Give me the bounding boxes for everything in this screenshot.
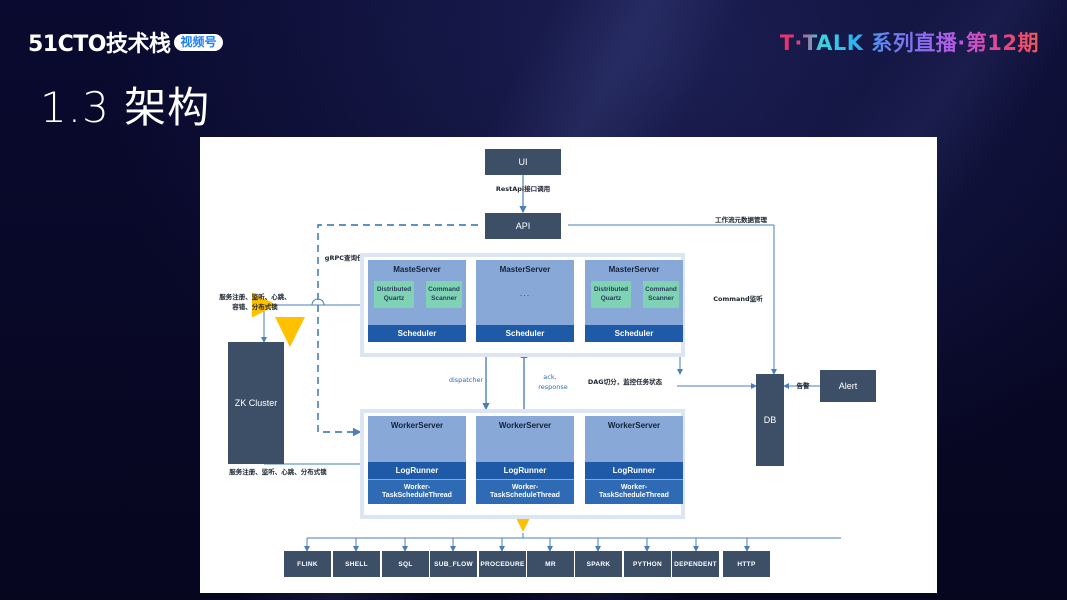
task-node-python-label: PYTHON	[633, 561, 662, 568]
edge-label-dispatcher: dispatcher	[446, 376, 486, 385]
master-server-2-ellipsis: ...	[476, 288, 574, 298]
task-node-flink-label: FLINK	[297, 561, 318, 568]
worker-server-2-title: WorkerServer	[476, 421, 574, 430]
node-master-server-1[interactable]: MasteServer DistributedQuartz CommandSca…	[368, 260, 466, 342]
node-master-server-3[interactable]: MasterServer DistributedQuartz CommandSc…	[585, 260, 683, 342]
worker-server-1-thread[interactable]: Worker-TaskScheduleThread	[368, 480, 466, 504]
master-server-3-quartz[interactable]: DistributedQuartz	[591, 281, 631, 308]
task-node-flink[interactable]: FLINK	[284, 551, 331, 577]
master-server-3-scanner[interactable]: CommandScanner	[643, 281, 679, 308]
edge-label-ack: ack,	[530, 373, 570, 382]
master-server-2-title: MasterServer	[476, 265, 574, 274]
node-ui[interactable]: UI	[485, 149, 561, 175]
worker-server-1-title: WorkerServer	[368, 421, 466, 430]
master-server-1-scheduler[interactable]: Scheduler	[368, 325, 466, 342]
edge-label-rest-api: RestApi接口调用	[481, 185, 565, 194]
brand-badge: 视频号	[174, 34, 222, 51]
brand-logo: 51CTO技术栈 视频号	[28, 26, 223, 58]
node-alert[interactable]: Alert	[820, 370, 876, 402]
task-node-sql[interactable]: SQL	[382, 551, 429, 577]
task-node-spark[interactable]: SPARK	[575, 551, 622, 577]
task-node-dependent[interactable]: DEPENDENT	[672, 551, 719, 577]
worker-server-3-logrunner[interactable]: LogRunner	[585, 462, 683, 479]
task-node-shell-label: SHELL	[345, 561, 368, 568]
worker-server-2-thread[interactable]: Worker-TaskScheduleThread	[476, 480, 574, 504]
edge-label-alarm: 告警	[786, 382, 820, 391]
worker-server-2-logrunner-label: LogRunner	[504, 466, 547, 475]
master-server-3-scheduler[interactable]: Scheduler	[585, 325, 683, 342]
task-node-procedure[interactable]: PROCEDURE	[479, 551, 526, 577]
master-server-3-title: MasterServer	[585, 265, 683, 274]
page-title: 1.3 架构	[40, 74, 210, 135]
node-worker-server-1[interactable]: WorkerServer LogRunner Worker-TaskSchedu…	[368, 416, 466, 504]
worker-server-3-thread[interactable]: Worker-TaskScheduleThread	[585, 480, 683, 504]
master-server-1-scanner[interactable]: CommandScanner	[426, 281, 462, 308]
node-worker-server-2[interactable]: WorkerServer LogRunner Worker-TaskSchedu…	[476, 416, 574, 504]
node-api[interactable]: API	[485, 213, 561, 239]
master-server-1-scheduler-label: Scheduler	[398, 329, 437, 338]
node-api-label: API	[516, 221, 531, 232]
node-master-server-2[interactable]: MasterServer ... Scheduler	[476, 260, 574, 342]
task-node-sub-flow-label: SUB_FLOW	[434, 561, 473, 568]
edge-label-dag-monitor: DAG切分，监控任务状态	[570, 378, 680, 387]
task-node-http[interactable]: HTTP	[723, 551, 770, 577]
task-node-mr[interactable]: MR	[527, 551, 574, 577]
master-server-2-scheduler-label: Scheduler	[506, 329, 545, 338]
master-server-1-quartz[interactable]: DistributedQuartz	[374, 281, 414, 308]
master-server-1-title: MasteServer	[368, 265, 466, 274]
worker-server-3-logrunner-label: LogRunner	[613, 466, 656, 475]
worker-server-1-logrunner[interactable]: LogRunner	[368, 462, 466, 479]
node-db[interactable]: DB	[756, 374, 784, 466]
node-zk-cluster[interactable]: ZK Cluster	[228, 342, 284, 464]
task-node-procedure-label: PROCEDURE	[480, 561, 524, 568]
node-ui-label: UI	[519, 157, 528, 168]
node-alert-label: Alert	[839, 381, 858, 392]
node-db-label: DB	[764, 415, 777, 426]
diagram-connectors	[200, 137, 937, 593]
worker-server-2-logrunner[interactable]: LogRunner	[476, 462, 574, 479]
node-worker-server-3[interactable]: WorkerServer LogRunner Worker-TaskSchedu…	[585, 416, 683, 504]
task-node-mr-label: MR	[545, 561, 556, 568]
brand-name: 51CTO技术栈	[28, 26, 170, 58]
master-server-3-scheduler-label: Scheduler	[615, 329, 654, 338]
task-node-shell[interactable]: SHELL	[333, 551, 380, 577]
master-server-2-scheduler[interactable]: Scheduler	[476, 325, 574, 342]
task-node-http-label: HTTP	[737, 561, 755, 568]
edge-label-zk-register-top-line2: 容错、分布式锁	[200, 303, 310, 312]
node-zk-cluster-label: ZK Cluster	[235, 398, 278, 409]
edge-label-command-listen: Command监听	[698, 295, 778, 304]
task-node-python[interactable]: PYTHON	[624, 551, 671, 577]
task-node-sql-label: SQL	[398, 561, 412, 568]
edge-label-zk-register-top-line1: 服务注册、监听、心跳、	[200, 293, 310, 302]
task-node-spark-label: SPARK	[587, 561, 611, 568]
edge-label-zk-register-bottom: 服务注册、监听、心跳、分布式锁	[198, 468, 358, 477]
worker-server-3-title: WorkerServer	[585, 421, 683, 430]
task-node-dependent-label: DEPENDENT	[674, 561, 717, 568]
edge-label-workflow-meta: 工作流元数据管理	[686, 216, 796, 225]
task-node-sub-flow[interactable]: SUB_FLOW	[430, 551, 477, 577]
architecture-diagram: UI RestApi接口调用 API 工作流元数据管理 gRPC查询任务日志信息…	[200, 137, 937, 593]
worker-server-1-logrunner-label: LogRunner	[396, 466, 439, 475]
event-title: T·TALK 系列直播·第12期	[780, 27, 1039, 57]
